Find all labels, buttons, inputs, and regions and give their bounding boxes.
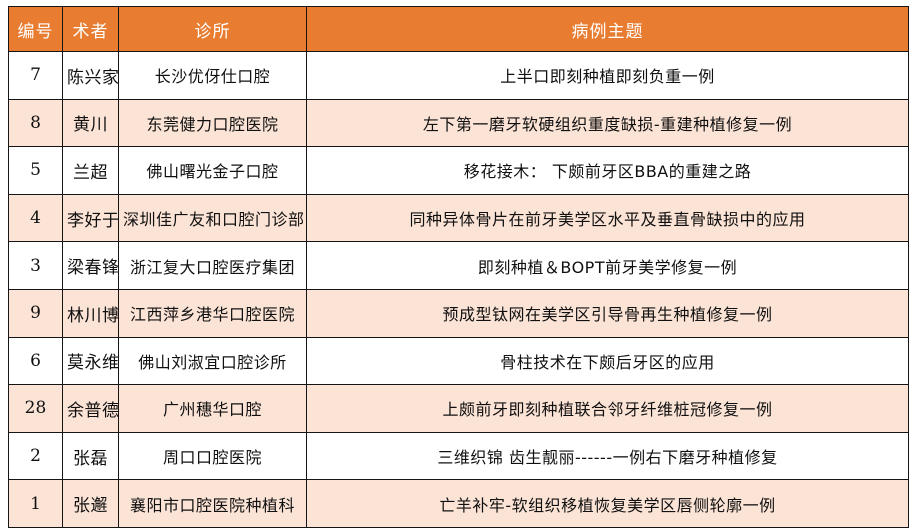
cell-doctor-name: 黄川 [63, 99, 119, 147]
column-header-clinic: 诊所 [119, 7, 307, 52]
cell-clinic-name: 长沙优伢仕口腔 [119, 52, 307, 100]
cell-case-topic: 骨柱技术在下颇后牙区的应用 [307, 337, 909, 385]
cell-clinic-name: 佛山刘淑宜口腔诊所 [119, 337, 307, 385]
cell-case-number: 4 [9, 194, 63, 242]
cell-case-topic: 亡羊补牢-软组织移植恢复美学区唇侧轮廓一例 [307, 480, 909, 528]
cell-clinic-name: 襄阳市口腔医院种植科 [119, 480, 307, 528]
cell-doctor-name: 兰超 [63, 147, 119, 195]
cell-case-topic: 上颇前牙即刻种植联合邻牙纤维桩冠修复一例 [307, 385, 909, 433]
table-row[interactable]: 8黄川东莞健力口腔医院左下第一磨牙软硬组织重度缺损-重建种植修复一例 [9, 99, 909, 147]
table-row[interactable]: 2张磊周口口腔医院三维织锦 齿生靓丽------一例右下磨牙种植修复 [9, 432, 909, 480]
cell-doctor-name: 李好于 [63, 194, 119, 242]
cell-case-number: 1 [9, 480, 63, 528]
table-body: 7陈兴家长沙优伢仕口腔上半口即刻种植即刻负重一例8黄川东莞健力口腔医院左下第一磨… [9, 52, 909, 528]
cell-doctor-name: 余普德 [63, 385, 119, 433]
cell-clinic-name: 江西萍乡港华口腔医院 [119, 289, 307, 337]
column-header-topic: 病例主题 [307, 7, 909, 52]
table-row[interactable]: 7陈兴家长沙优伢仕口腔上半口即刻种植即刻负重一例 [9, 52, 909, 100]
table-header: 编号 术者 诊所 病例主题 [9, 7, 909, 52]
cell-case-number: 2 [9, 432, 63, 480]
cell-case-topic: 同种异体骨片在前牙美学区水平及垂直骨缺损中的应用 [307, 194, 909, 242]
column-header-doctor: 术者 [63, 7, 119, 52]
cell-case-number: 6 [9, 337, 63, 385]
cell-clinic-name: 东莞健力口腔医院 [119, 99, 307, 147]
cell-case-number: 7 [9, 52, 63, 100]
cell-doctor-name: 陈兴家 [63, 52, 119, 100]
cell-case-topic: 即刻种植＆BOPT前牙美学修复一例 [307, 242, 909, 290]
table-header-row: 编号 术者 诊所 病例主题 [9, 7, 909, 52]
cell-doctor-name: 张邂 [63, 480, 119, 528]
cell-case-number: 8 [9, 99, 63, 147]
cell-clinic-name: 浙江复大口腔医疗集团 [119, 242, 307, 290]
cell-clinic-name: 周口口腔医院 [119, 432, 307, 480]
case-list-table: 编号 术者 诊所 病例主题 7陈兴家长沙优伢仕口腔上半口即刻种植即刻负重一例8黄… [8, 6, 909, 528]
cell-case-number: 3 [9, 242, 63, 290]
table-row[interactable]: 4李好于深圳佳广友和口腔门诊部同种异体骨片在前牙美学区水平及垂直骨缺损中的应用 [9, 194, 909, 242]
cell-case-topic: 移花接木： 下颇前牙区BBA的重建之路 [307, 147, 909, 195]
cell-clinic-name: 佛山曙光金子口腔 [119, 147, 307, 195]
cell-doctor-name: 梁春锋 [63, 242, 119, 290]
cell-clinic-name: 广州穗华口腔 [119, 385, 307, 433]
cell-doctor-name: 莫永维 [63, 337, 119, 385]
cell-case-number: 28 [9, 385, 63, 433]
table-row[interactable]: 6莫永维佛山刘淑宜口腔诊所骨柱技术在下颇后牙区的应用 [9, 337, 909, 385]
table-row[interactable]: 3梁春锋浙江复大口腔医疗集团即刻种植＆BOPT前牙美学修复一例 [9, 242, 909, 290]
table-container: 编号 术者 诊所 病例主题 7陈兴家长沙优伢仕口腔上半口即刻种植即刻负重一例8黄… [0, 0, 916, 513]
cell-case-number: 9 [9, 289, 63, 337]
cell-case-topic: 上半口即刻种植即刻负重一例 [307, 52, 909, 100]
cell-doctor-name: 张磊 [63, 432, 119, 480]
cell-doctor-name: 林川博 [63, 289, 119, 337]
column-header-id: 编号 [9, 7, 63, 52]
table-row[interactable]: 1张邂襄阳市口腔医院种植科亡羊补牢-软组织移植恢复美学区唇侧轮廓一例 [9, 480, 909, 528]
cell-case-number: 5 [9, 147, 63, 195]
cell-case-topic: 三维织锦 齿生靓丽------一例右下磨牙种植修复 [307, 432, 909, 480]
cell-case-topic: 左下第一磨牙软硬组织重度缺损-重建种植修复一例 [307, 99, 909, 147]
table-row[interactable]: 28余普德广州穗华口腔上颇前牙即刻种植联合邻牙纤维桩冠修复一例 [9, 385, 909, 433]
table-row[interactable]: 9林川博江西萍乡港华口腔医院预成型钛网在美学区引导骨再生种植修复一例 [9, 289, 909, 337]
cell-case-topic: 预成型钛网在美学区引导骨再生种植修复一例 [307, 289, 909, 337]
cell-clinic-name: 深圳佳广友和口腔门诊部 [119, 194, 307, 242]
table-row[interactable]: 5兰超佛山曙光金子口腔移花接木： 下颇前牙区BBA的重建之路 [9, 147, 909, 195]
